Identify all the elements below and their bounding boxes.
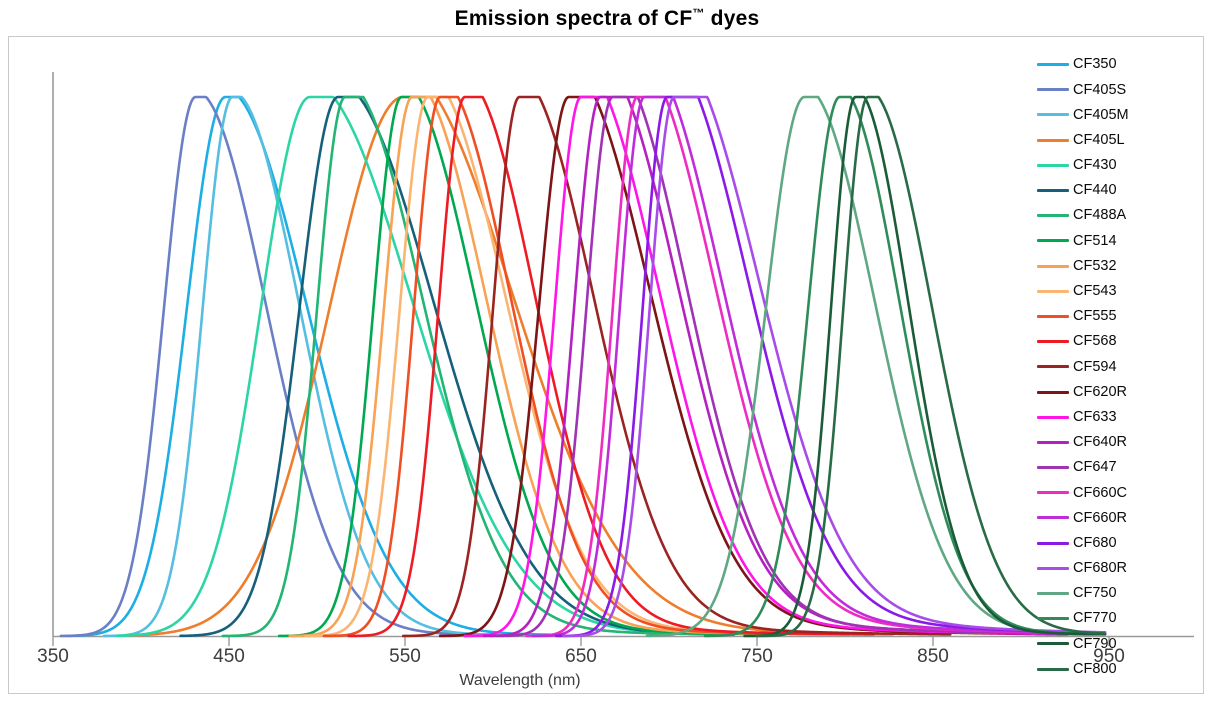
legend-color-swatch [1037,239,1069,242]
legend-color-swatch [1037,365,1069,368]
legend-color-swatch [1037,189,1069,192]
legend-item-cf488a[interactable]: CF488A [1037,203,1197,228]
x-tick-label-650: 650 [565,646,597,668]
x-axis-title: Wavelength (nm) [0,672,1040,690]
chart-title: Emission spectra of CF™ dyes [0,6,1214,31]
chart-title-main: Emission spectra of CF [455,7,693,30]
legend-color-swatch [1037,466,1069,469]
legend-color-swatch [1037,441,1069,444]
legend-item-cf568[interactable]: CF568 [1037,329,1197,354]
legend-item-label: CF770 [1073,611,1117,626]
legend-color-swatch [1037,416,1069,419]
legend-color-swatch [1037,113,1069,116]
legend-item-label: CF405M [1073,108,1129,123]
legend-item-cf680r[interactable]: CF680R [1037,556,1197,581]
x-tick-label-450: 450 [213,646,245,668]
x-tick-label-350: 350 [37,646,69,668]
legend-item-label: CF800 [1073,662,1117,677]
legend-color-swatch [1037,88,1069,91]
legend-item-cf750[interactable]: CF750 [1037,581,1197,606]
legend-item-cf532[interactable]: CF532 [1037,254,1197,279]
legend-color-swatch [1037,617,1069,620]
legend-color-swatch [1037,63,1069,66]
legend-item-label: CF430 [1073,158,1117,173]
plot-frame [8,36,1204,694]
legend-item-cf660c[interactable]: CF660C [1037,480,1197,505]
legend-item-label: CF350 [1073,57,1117,72]
legend-color-swatch [1037,214,1069,217]
legend-item-label: CF633 [1073,410,1117,425]
legend-color-swatch [1037,491,1069,494]
legend-item-label: CF405L [1073,133,1125,148]
legend-item-label: CF568 [1073,334,1117,349]
legend-item-label: CF514 [1073,234,1117,249]
legend-item-label: CF440 [1073,183,1117,198]
legend-item-cf514[interactable]: CF514 [1037,228,1197,253]
chart-title-suffix: dyes [705,7,760,30]
legend-color-swatch [1037,668,1069,671]
legend-item-cf640r[interactable]: CF640R [1037,430,1197,455]
legend-item-cf770[interactable]: CF770 [1037,606,1197,631]
legend-item-cf430[interactable]: CF430 [1037,153,1197,178]
legend-color-swatch [1037,164,1069,167]
legend-color-swatch [1037,290,1069,293]
legend-item-label: CF660R [1073,511,1127,526]
legend-item-label: CF750 [1073,586,1117,601]
x-tick-label-750: 750 [741,646,773,668]
legend-item-label: CF790 [1073,637,1117,652]
legend-item-cf543[interactable]: CF543 [1037,279,1197,304]
legend-item-cf405m[interactable]: CF405M [1037,102,1197,127]
legend-item-label: CF680 [1073,536,1117,551]
legend-color-swatch [1037,265,1069,268]
legend-item-cf800[interactable]: CF800 [1037,657,1197,682]
legend-color-swatch [1037,642,1069,645]
chart-legend: CF350CF405SCF405MCF405LCF430CF440CF488AC… [1037,52,1197,682]
legend-item-label: CF488A [1073,208,1126,223]
legend-color-swatch [1037,592,1069,595]
legend-item-label: CF532 [1073,259,1117,274]
legend-color-swatch [1037,516,1069,519]
legend-item-cf620r[interactable]: CF620R [1037,379,1197,404]
legend-item-label: CF594 [1073,360,1117,375]
legend-color-swatch [1037,340,1069,343]
chart-page: Emission spectra of CF™ dyes 35045055065… [0,0,1214,703]
legend-item-cf790[interactable]: CF790 [1037,631,1197,656]
legend-item-cf680[interactable]: CF680 [1037,531,1197,556]
legend-color-swatch [1037,139,1069,142]
legend-item-cf350[interactable]: CF350 [1037,52,1197,77]
legend-item-label: CF647 [1073,460,1117,475]
legend-item-cf647[interactable]: CF647 [1037,455,1197,480]
legend-item-cf660r[interactable]: CF660R [1037,505,1197,530]
legend-color-swatch [1037,315,1069,318]
legend-item-cf405s[interactable]: CF405S [1037,77,1197,102]
legend-item-cf633[interactable]: CF633 [1037,405,1197,430]
legend-item-cf594[interactable]: CF594 [1037,354,1197,379]
legend-item-cf440[interactable]: CF440 [1037,178,1197,203]
legend-item-label: CF405S [1073,83,1126,98]
trademark-symbol: ™ [692,6,704,20]
x-tick-label-550: 550 [389,646,421,668]
legend-color-swatch [1037,542,1069,545]
legend-item-label: CF660C [1073,486,1127,501]
x-tick-label-850: 850 [917,646,949,668]
legend-item-label: CF620R [1073,385,1127,400]
legend-item-label: CF555 [1073,309,1117,324]
legend-item-cf555[interactable]: CF555 [1037,304,1197,329]
legend-color-swatch [1037,567,1069,570]
legend-item-cf405l[interactable]: CF405L [1037,128,1197,153]
legend-item-label: CF543 [1073,284,1117,299]
legend-color-swatch [1037,391,1069,394]
legend-item-label: CF640R [1073,435,1127,450]
legend-item-label: CF680R [1073,561,1127,576]
